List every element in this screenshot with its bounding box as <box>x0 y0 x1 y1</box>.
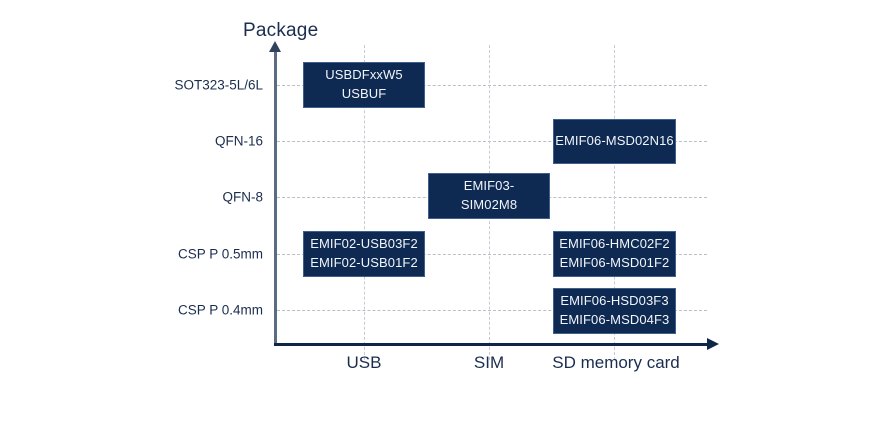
x-axis-label-sd-memory-card: SD memory card <box>552 353 680 373</box>
part-label: EMIF02-USB03F2 <box>310 235 418 254</box>
x-axis-line <box>274 343 709 346</box>
part-label: EMIF06-MSD02N16 <box>555 132 674 151</box>
x-axis-label-usb: USB <box>347 353 382 373</box>
part-label: USBDFxxW5 <box>325 66 402 85</box>
part-label: EMIF06-HMC02F2 <box>559 235 669 254</box>
package-availability-chart: Package SOT323-5L/6L QFN-16 QFN-8 CSP P … <box>0 0 880 442</box>
data-box-usb-csp-p-05mm[interactable]: EMIF02-USB03F2 EMIF02-USB01F2 <box>303 231 425 277</box>
x-axis-arrow-icon <box>707 338 719 350</box>
y-axis-label-csp-p-04mm: CSP P 0.4mm <box>103 303 263 318</box>
part-label: EMIF06-HSD03F3 <box>560 292 668 311</box>
y-axis-label-qfn8: QFN-8 <box>103 190 263 205</box>
data-box-sim-qfn8[interactable]: EMIF03- SIM02M8 <box>428 173 550 219</box>
y-axis-label-csp-p-05mm: CSP P 0.5mm <box>103 247 263 262</box>
data-box-usb-sot323[interactable]: USBDFxxW5 USBUF <box>303 62 425 108</box>
part-label: USBUF <box>342 85 387 104</box>
part-label: EMIF03- <box>464 177 515 196</box>
part-label: EMIF06-MSD01F2 <box>560 254 670 273</box>
y-axis-title: Package <box>243 20 318 42</box>
part-label: EMIF02-USB01F2 <box>310 254 418 273</box>
part-label: SIM02M8 <box>461 196 517 215</box>
x-axis-label-sim: SIM <box>474 353 504 373</box>
y-axis-arrow-icon <box>269 41 281 52</box>
y-axis-label-sot323: SOT323-5L/6L <box>103 78 263 93</box>
data-box-sd-csp-p-05mm[interactable]: EMIF06-HMC02F2 EMIF06-MSD01F2 <box>553 231 676 277</box>
y-axis-line <box>274 50 277 345</box>
data-box-sd-csp-p-04mm[interactable]: EMIF06-HSD03F3 EMIF06-MSD04F3 <box>553 288 676 334</box>
part-label: EMIF06-MSD04F3 <box>560 311 670 330</box>
data-box-sd-qfn16[interactable]: EMIF06-MSD02N16 <box>553 119 676 164</box>
y-axis-label-qfn16: QFN-16 <box>103 134 263 149</box>
